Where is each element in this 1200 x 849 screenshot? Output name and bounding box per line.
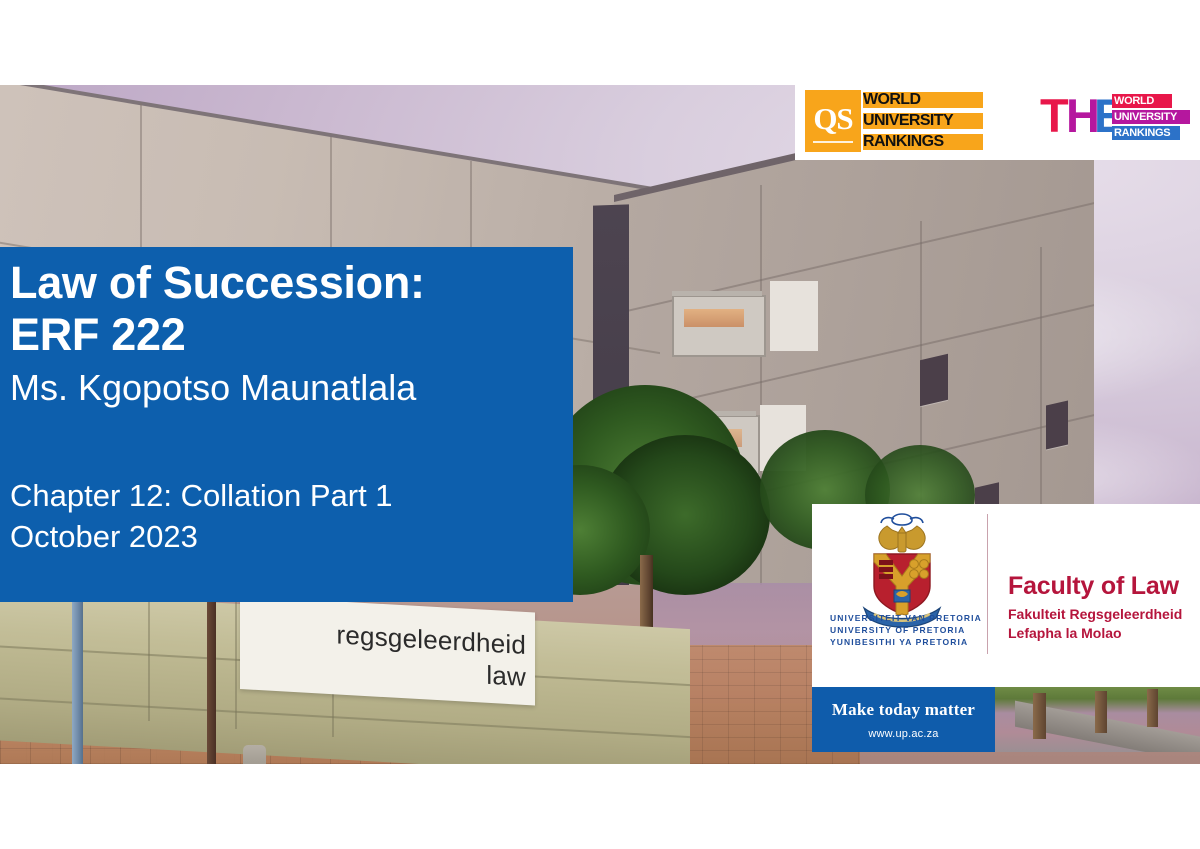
- presentation-slide: regsgeleerdheid law Law of Succession: E…: [0, 0, 1200, 849]
- the-band-rankings: RANKINGS: [1112, 126, 1180, 140]
- the-text-world: WORLD: [1114, 94, 1154, 108]
- logo-photo-strip: [995, 687, 1200, 752]
- up-name-afrikaans: UNIVERSITEIT VAN PRETORIA: [830, 612, 980, 624]
- strip-tree-trunk: [1033, 693, 1046, 739]
- qs-text-university: UNIVERSITY: [863, 111, 953, 131]
- slide-title-line-2: ERF 222: [10, 309, 565, 361]
- faculty-title-english: Faculty of Law: [1008, 572, 1198, 600]
- the-world-university-rankings-logo: T H E WORLD UNIVERSITY RANKINGS: [1040, 90, 1190, 152]
- up-website-url[interactable]: www.up.ac.za: [812, 727, 995, 741]
- window: [920, 354, 948, 406]
- strip-tree-trunk: [1095, 691, 1107, 733]
- title-panel: Law of Succession: ERF 222 Ms. Kgopotso …: [0, 247, 573, 602]
- slide-title-line-1: Law of Succession:: [10, 257, 565, 309]
- slide-meta: Chapter 12: Collation Part 1 October 202…: [10, 475, 393, 557]
- qs-world-university-rankings-logo: QS WORLD UNIVERSITY RANKINGS: [805, 90, 983, 152]
- up-coat-of-arms-icon: [852, 510, 952, 628]
- window: [1046, 400, 1068, 449]
- strip-tree-trunk: [1147, 689, 1158, 727]
- up-name-sepedi: YUNIBESITHI YA PRETORIA: [830, 636, 980, 648]
- balcony-rail: [672, 291, 762, 296]
- up-trilingual-name: UNIVERSITEIT VAN PRETORIA UNIVERSITY OF …: [830, 612, 980, 648]
- title-group: Law of Succession: ERF 222 Ms. Kgopotso …: [10, 257, 565, 411]
- wall-seam: [235, 601, 237, 729]
- qs-text-rankings: RANKINGS: [863, 132, 944, 152]
- faculty-title-afrikaans: Fakulteit Regsgeleerdheid: [1008, 605, 1198, 624]
- qs-row-rankings: RANKINGS: [863, 132, 983, 152]
- up-tagline-panel: Make today matter www.up.ac.za: [812, 687, 995, 752]
- qs-row-university: UNIVERSITY: [863, 111, 983, 131]
- up-tagline: Make today matter: [812, 687, 995, 720]
- qs-underline: [813, 141, 853, 143]
- sign-text-afrikaans: regsgeleerdheid: [337, 619, 526, 660]
- faculty-name-group: Faculty of Law Fakulteit Regsgeleerdheid…: [1008, 572, 1198, 643]
- the-letter-t: T: [1040, 92, 1066, 139]
- chapter-label: Chapter 12: Collation Part 1: [10, 475, 393, 516]
- the-text-rankings: RANKINGS: [1114, 126, 1170, 140]
- up-faculty-logo-block: UNIVERSITEIT VAN PRETORIA UNIVERSITY OF …: [812, 504, 1200, 752]
- wall-seam: [148, 597, 150, 721]
- qs-monogram-text: QS: [813, 103, 852, 134]
- logo-divider: [987, 514, 988, 654]
- building-sign: regsgeleerdheid law: [240, 596, 535, 705]
- presenter-name: Ms. Kgopotso Maunatlala: [10, 365, 565, 411]
- bollard: [243, 745, 266, 764]
- qs-text-world: WORLD: [863, 90, 920, 110]
- sign-text-english: law: [486, 660, 526, 692]
- faculty-title-sepedi: Lefapha la Molao: [1008, 624, 1198, 643]
- up-name-english: UNIVERSITY OF PRETORIA: [830, 624, 980, 636]
- the-band-university: UNIVERSITY: [1112, 110, 1190, 124]
- balcony-panel: [770, 281, 818, 351]
- qs-wordmark: WORLD UNIVERSITY RANKINGS: [863, 90, 983, 152]
- the-letter-h: H: [1066, 92, 1097, 139]
- the-wordmark-stack: WORLD UNIVERSITY RANKINGS: [1112, 94, 1190, 142]
- date-label: October 2023: [10, 516, 393, 557]
- lamp-post: [72, 585, 83, 764]
- qs-row-world: WORLD: [863, 90, 983, 110]
- balcony-glazing: [684, 309, 744, 327]
- qs-monogram-icon: QS: [805, 90, 861, 152]
- the-band-world: WORLD: [1112, 94, 1172, 108]
- the-text-university: UNIVERSITY: [1114, 110, 1177, 124]
